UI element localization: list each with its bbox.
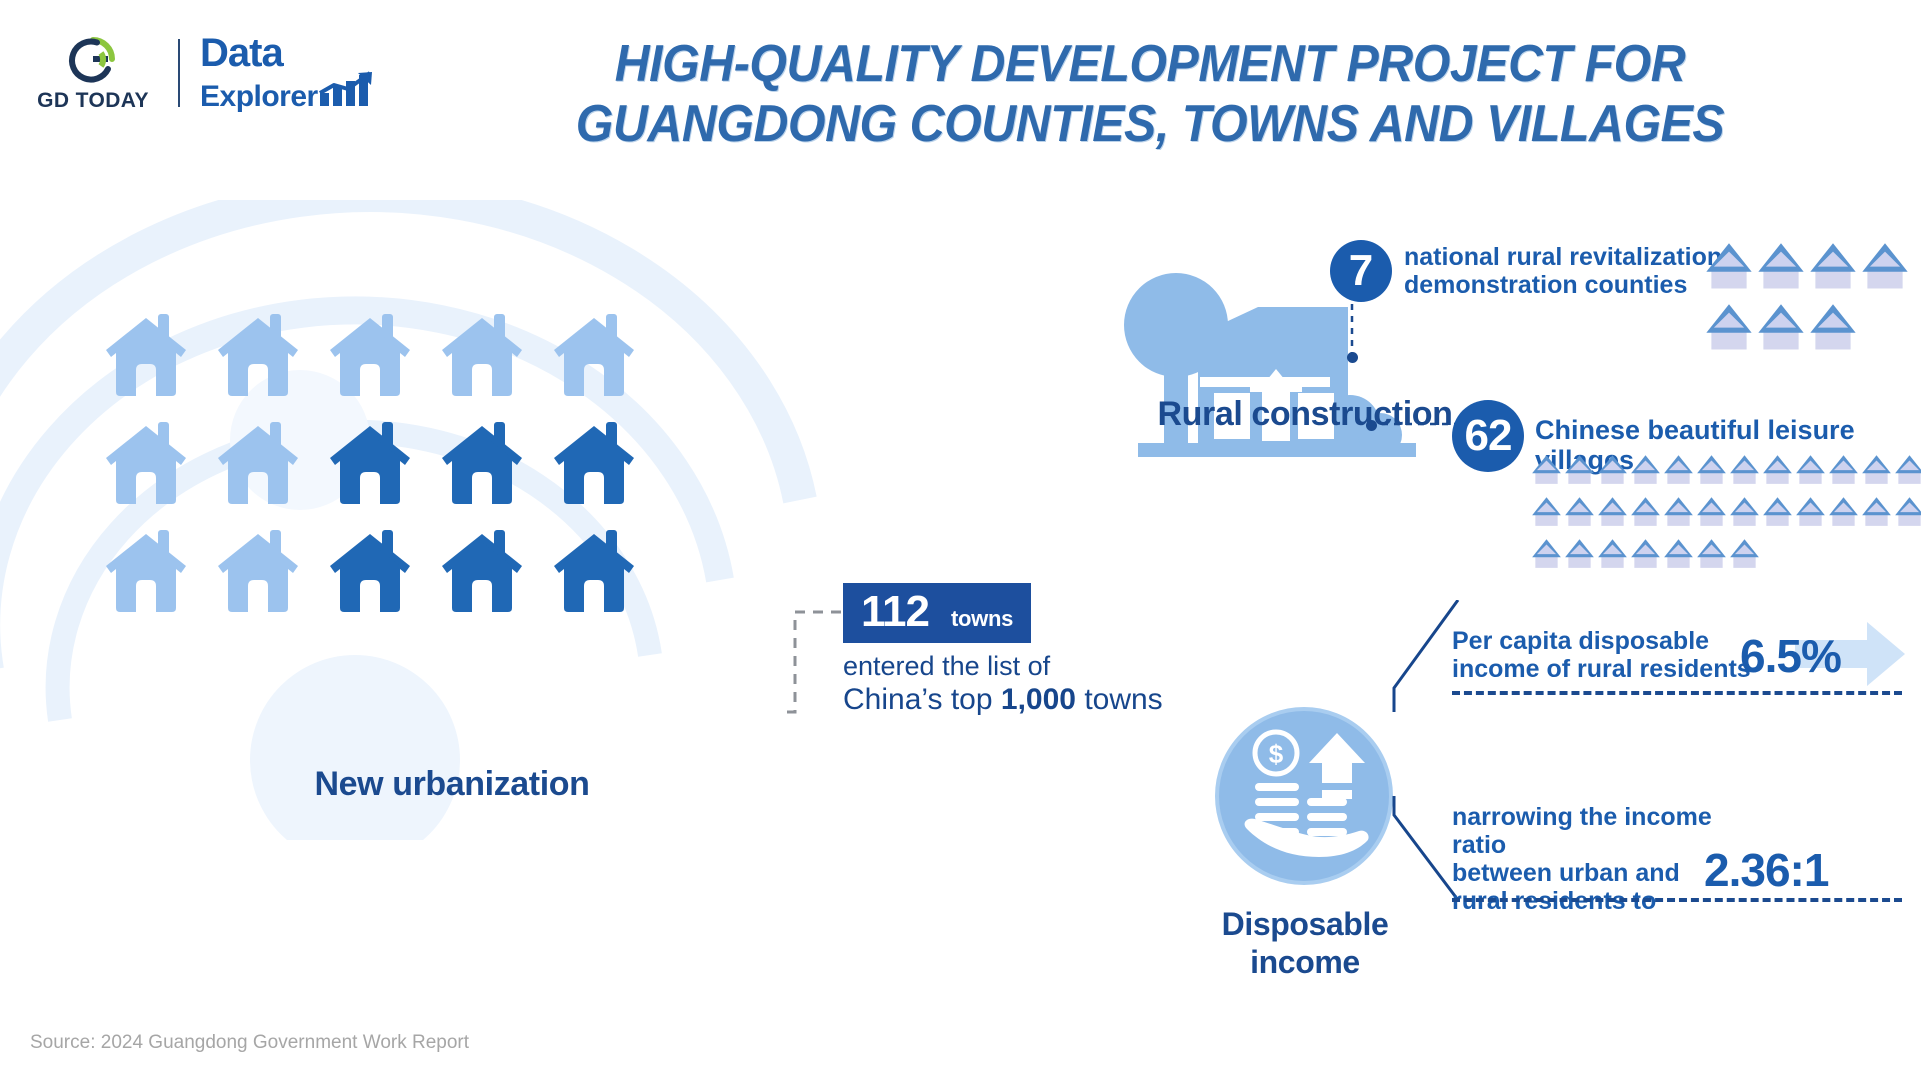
brand-logo-group: GD TODAY Data Explorer (28, 30, 388, 116)
village-icon-row (1530, 452, 1921, 491)
new-urbanization-house-grid (98, 300, 668, 624)
house-icon (546, 300, 642, 398)
callout-bracket-connector (785, 606, 843, 718)
income-1-line1: Per capita disposable (1452, 627, 1752, 655)
house-icon-highlighted (546, 408, 642, 506)
svg-text:$: $ (1269, 739, 1284, 769)
income-divider-2 (1452, 898, 1902, 902)
towns-desc-post: towns (1084, 683, 1162, 716)
counties-icon-grid (1703, 238, 1918, 360)
house-icon (98, 300, 194, 398)
village-house-icon (1629, 494, 1662, 533)
house-icon (98, 408, 194, 506)
village-house-icon (1596, 452, 1629, 491)
village-house-icon (1728, 536, 1761, 575)
house-icon-highlighted (434, 408, 530, 506)
income-item-1-description: Per capita disposable income of rural re… (1452, 627, 1752, 683)
source-note: Source: 2024 Guangdong Government Work R… (30, 1032, 469, 1054)
house-icon (210, 408, 306, 506)
village-house-icon (1695, 494, 1728, 533)
gd-today-logo[interactable]: GD TODAY (28, 33, 158, 113)
village-icon-row (1703, 299, 1918, 358)
village-house-icon (1662, 494, 1695, 533)
infographic-canvas: GD TODAY Data Explorer (0, 0, 1921, 1080)
income-item-1-value: 6.5% (1740, 629, 1841, 683)
bar-chart-arrow-icon (318, 71, 388, 112)
rural-construction-label: Rural construction (1140, 395, 1470, 434)
village-house-icon (1695, 452, 1728, 491)
village-house-icon (1563, 452, 1596, 491)
logo-divider (178, 39, 180, 107)
counties-count-badge: 7 (1330, 240, 1392, 302)
hand-holding-money-icon: $ (1215, 707, 1393, 885)
village-house-icon (1860, 452, 1893, 491)
village-house-icon (1563, 536, 1596, 575)
house-row (98, 408, 668, 506)
towns-desc-line1: entered the list of (843, 649, 1163, 683)
village-house-icon (1755, 299, 1807, 358)
income-2-line2: between urban and (1452, 859, 1742, 887)
village-icon-row (1530, 536, 1921, 575)
village-house-icon (1893, 494, 1921, 533)
village-house-icon (1596, 536, 1629, 575)
village-house-icon (1807, 238, 1859, 297)
house-icon (434, 300, 530, 398)
house-row (98, 516, 668, 614)
village-house-icon (1662, 536, 1695, 575)
towns-callout: 112 towns entered the list of China’s to… (843, 583, 1163, 717)
house-icon (210, 516, 306, 614)
towns-unit: towns (951, 606, 1013, 632)
towns-description: entered the list of China’s top 1,000 to… (843, 649, 1163, 717)
village-house-icon (1703, 238, 1755, 297)
income-label-line2: income (1180, 943, 1430, 981)
house-icon (98, 516, 194, 614)
towns-desc-bold: 1,000 (1001, 683, 1076, 716)
village-house-icon (1859, 238, 1911, 297)
village-house-icon (1807, 299, 1859, 358)
income-item-2-value: 2.36:1 (1704, 843, 1828, 897)
income-2-line1: narrowing the income ratio (1452, 803, 1742, 859)
circular-g-logo-icon (67, 33, 119, 85)
counties-desc-line2: demonstration counties (1404, 271, 1734, 299)
house-icon (322, 300, 418, 398)
village-house-icon (1662, 452, 1695, 491)
income-1-line2: income of rural residents (1452, 655, 1752, 683)
house-icon-highlighted (434, 516, 530, 614)
house-icon-highlighted (546, 516, 642, 614)
village-icon-row (1530, 494, 1921, 533)
village-house-icon (1860, 494, 1893, 533)
village-house-icon (1530, 452, 1563, 491)
explorer-label: Explorer (200, 82, 318, 112)
village-house-icon (1695, 536, 1728, 575)
village-house-icon (1596, 494, 1629, 533)
village-house-icon (1563, 494, 1596, 533)
counties-desc-line1: national rural revitalization (1404, 243, 1734, 271)
village-house-icon (1629, 452, 1662, 491)
village-house-icon (1827, 494, 1860, 533)
towns-desc-line2: China’s top 1,000 towns (843, 683, 1163, 717)
house-icon (210, 300, 306, 398)
village-house-icon (1728, 494, 1761, 533)
village-house-icon (1728, 452, 1761, 491)
villages-icon-grid (1530, 452, 1921, 578)
village-house-icon (1761, 494, 1794, 533)
village-house-icon (1794, 452, 1827, 491)
data-label: Data (200, 35, 283, 71)
towns-number: 112 (861, 590, 929, 634)
house-icon-highlighted (322, 408, 418, 506)
towns-badge: 112 towns (843, 583, 1031, 643)
towns-desc-pre: China’s top (843, 683, 993, 716)
income-divider-1 (1452, 691, 1902, 695)
house-icon-highlighted (322, 516, 418, 614)
village-house-icon (1794, 494, 1827, 533)
village-icon-row (1703, 238, 1918, 297)
village-house-icon (1530, 536, 1563, 575)
counties-description: national rural revitalization demonstrat… (1404, 243, 1734, 299)
data-explorer-logo[interactable]: Data Explorer (200, 35, 388, 112)
title-line-2: GUANGDONG COUNTIES, TOWNS AND VILLAGES (453, 94, 1848, 154)
village-house-icon (1755, 238, 1807, 297)
page-title: HIGH-QUALITY DEVELOPMENT PROJECT FOR GUA… (453, 34, 1848, 154)
title-line-1: HIGH-QUALITY DEVELOPMENT PROJECT FOR (453, 34, 1848, 94)
village-house-icon (1703, 299, 1755, 358)
village-house-icon (1893, 452, 1921, 491)
village-house-icon (1530, 494, 1563, 533)
house-row (98, 300, 668, 398)
gd-today-label: GD TODAY (37, 89, 149, 113)
new-urbanization-label: New urbanization (222, 765, 682, 804)
village-house-icon (1629, 536, 1662, 575)
village-house-icon (1827, 452, 1860, 491)
village-house-icon (1761, 452, 1794, 491)
